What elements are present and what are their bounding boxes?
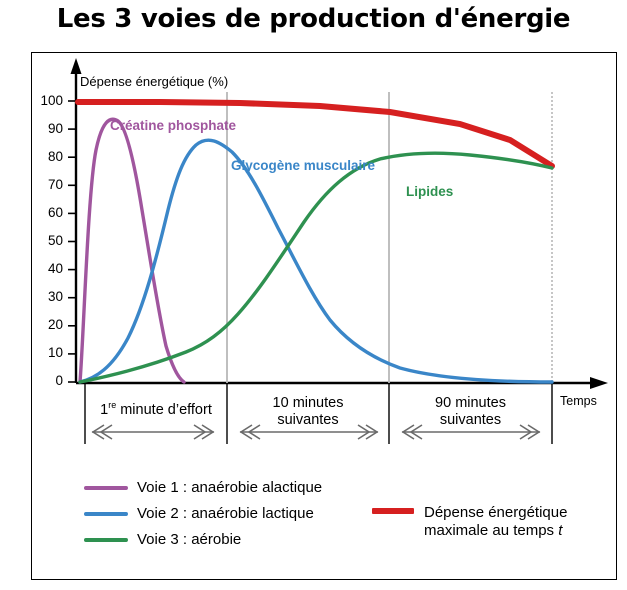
y-tick-label: 70 bbox=[33, 177, 63, 192]
legend-swatch-red bbox=[372, 508, 414, 514]
y-tick-label: 30 bbox=[33, 289, 63, 304]
legend-label-voie-2: Voie 2 : anaérobie lactique bbox=[137, 505, 314, 522]
y-tick-label: 80 bbox=[33, 149, 63, 164]
y-tick-label: 10 bbox=[33, 345, 63, 360]
legend-label-max-italic: t bbox=[558, 522, 562, 539]
curve-label-lipides: Lipides bbox=[406, 184, 453, 199]
y-axis-title: Dépense énergétique (%) bbox=[80, 74, 228, 89]
y-tick-label: 100 bbox=[33, 93, 63, 108]
y-tick-label: 90 bbox=[33, 121, 63, 136]
zone-label-2-line1: 10 minutes bbox=[273, 395, 344, 411]
y-tick-label: 50 bbox=[33, 233, 63, 248]
x-axis-arrow bbox=[590, 377, 608, 389]
legend-item-voie-2: Voie 2 : anaérobie lactique bbox=[84, 505, 314, 522]
legend-item-voie-3: Voie 3 : aérobie bbox=[84, 531, 241, 548]
zone-label-3: 90 minutes suivantes bbox=[389, 395, 552, 429]
chart-root: Les 3 voies de production d'énergie bbox=[0, 0, 627, 590]
legend-item-max-expenditure: Dépense énergétique maximale au temps t bbox=[372, 508, 567, 540]
y-tick-label: 20 bbox=[33, 317, 63, 332]
curve-label-creatine-phosphate: Créatine phosphate bbox=[110, 118, 236, 133]
curve-label-glycogene-musculaire: Glycogène musculaire bbox=[231, 158, 375, 173]
legend-label-max-line2: maximale au temps bbox=[424, 522, 554, 539]
zone-label-3-line2: suivantes bbox=[440, 412, 501, 428]
zone-label-2: 10 minutes suivantes bbox=[227, 395, 389, 429]
legend-item-voie-1: Voie 1 : anaérobie alactique bbox=[84, 479, 322, 496]
legend-label-max-line1: Dépense énergétique bbox=[424, 504, 567, 521]
legend-label-voie-1: Voie 1 : anaérobie alactique bbox=[137, 479, 322, 496]
zone-label-2-line2: suivantes bbox=[277, 412, 338, 428]
y-tick-label: 60 bbox=[33, 205, 63, 220]
legend-swatch-blue bbox=[84, 512, 128, 516]
zone-label-1-text: 1re minute d’effort bbox=[100, 402, 212, 418]
y-tick-label: 40 bbox=[33, 261, 63, 276]
y-axis-arrow bbox=[71, 58, 82, 74]
y-tick-label: 0 bbox=[33, 373, 63, 388]
curve-voie-1 bbox=[80, 119, 184, 382]
zone-label-3-line1: 90 minutes bbox=[435, 395, 506, 411]
x-axis-title: Temps bbox=[560, 394, 597, 408]
legend-swatch-green bbox=[84, 538, 128, 542]
legend-label-voie-3: Voie 3 : aérobie bbox=[137, 531, 241, 548]
zone-label-1: 1re minute d’effort bbox=[85, 397, 227, 419]
legend-swatch-purple bbox=[84, 486, 128, 490]
legend-label-max-expenditure: Dépense énergétique maximale au temps t bbox=[424, 504, 567, 540]
